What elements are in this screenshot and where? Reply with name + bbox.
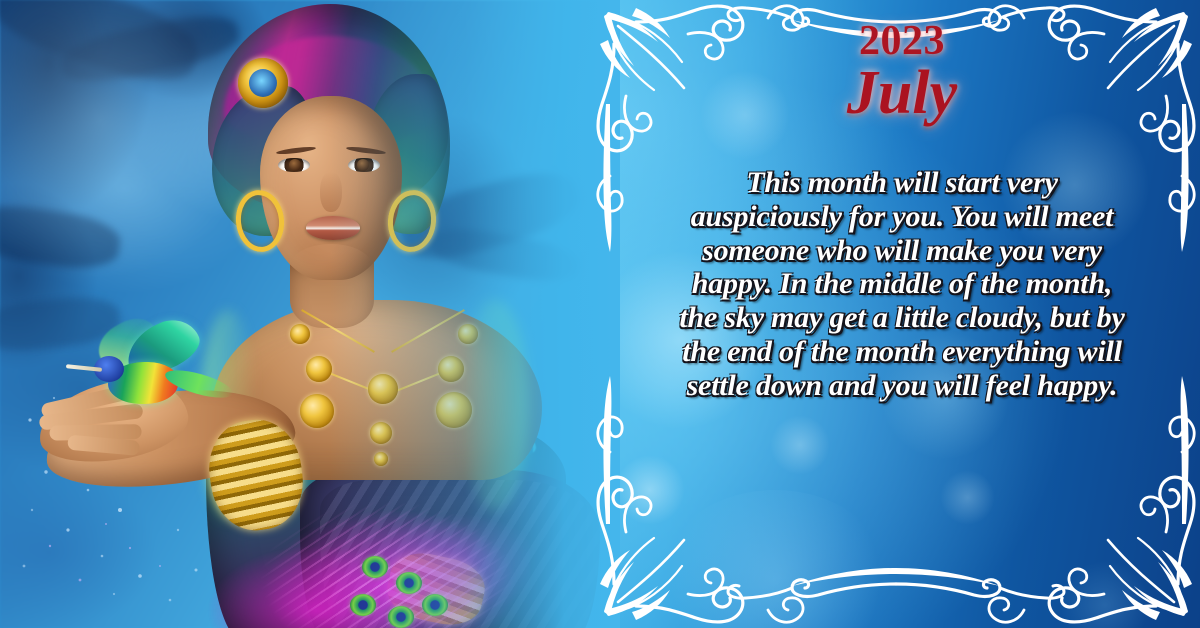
nose (320, 172, 342, 212)
forecast-text: This month will start very auspiciously … (676, 166, 1128, 402)
horoscope-card: 2023 July This month will start very aus… (0, 0, 1200, 628)
turban-jewel-brooch (238, 58, 288, 108)
peacock-eye (422, 594, 448, 616)
peacock-eye (396, 572, 422, 594)
chin-highlight (290, 244, 372, 288)
month-title: July (604, 62, 1200, 124)
forecast-panel: 2023 July This month will start very aus… (604, 0, 1200, 628)
lips (306, 216, 360, 240)
year-label: 2023 (604, 20, 1200, 62)
pupil-right (357, 159, 369, 171)
peacock-eye (362, 556, 388, 578)
rainbow-hummingbird (52, 318, 222, 438)
pupil-left (289, 159, 301, 171)
gold-coin-necklace (290, 322, 480, 482)
woman-figure (150, 0, 620, 628)
fortune-teller-illustration (0, 0, 620, 628)
peacock-eye (350, 594, 376, 616)
peacock-eye (388, 606, 414, 628)
